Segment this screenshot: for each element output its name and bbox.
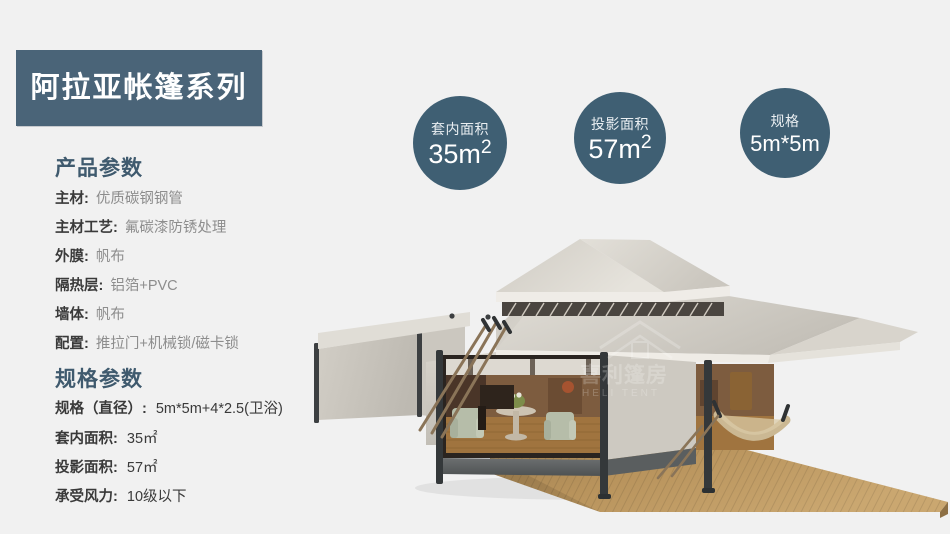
spec-params-heading: 规格参数 (55, 363, 143, 393)
page-title: 阿拉亚帐篷系列 (30, 74, 247, 103)
param-row-material-process: 主材工艺: 氟碳漆防锈处理 (55, 221, 226, 236)
stat-circle-value: 35m2 (428, 141, 491, 168)
param-label: 配置: (55, 336, 89, 352)
spec-label: 套内面积: (55, 431, 118, 447)
upper-roof (496, 239, 730, 316)
spec-row-wind-resistance: 承受风力: 10级以下 (55, 490, 187, 505)
stat-circle-value: 5m*5m (750, 133, 820, 155)
armchair-right (544, 412, 576, 440)
stat-circle-dimensions: 规格 5m*5m (740, 88, 830, 178)
param-value: 氟碳漆防锈处理 (125, 220, 227, 236)
page-root: 阿拉亚帐篷系列 产品参数 主材: 优质碳钢钢管 主材工艺: 氟碳漆防锈处理 外膜… (0, 0, 950, 534)
param-value: 优质碳钢钢管 (96, 191, 183, 207)
param-label: 隔热层: (55, 278, 103, 294)
param-row-insulation-layer: 隔热层: 铝箔+PVC (55, 279, 178, 294)
spec-value: 10级以下 (127, 489, 187, 505)
param-row-configuration: 配置: 推拉门+机械锁/磁卡锁 (55, 337, 239, 352)
spec-label: 投影面积: (55, 460, 118, 476)
param-row-outer-membrane: 外膜: 帆布 (55, 250, 125, 265)
param-value: 帆布 (96, 307, 125, 323)
param-label: 主材: (55, 191, 89, 207)
stat-circle-value: 57m2 (588, 136, 651, 163)
param-row-wall: 墙体: 帆布 (55, 308, 125, 323)
spec-value: 57㎡ (127, 460, 158, 476)
param-label: 外膜: (55, 249, 89, 265)
param-label: 主材工艺: (55, 220, 118, 236)
title-banner: 阿拉亚帐篷系列 (16, 50, 262, 126)
param-row-main-material: 主材: 优质碳钢钢管 (55, 192, 183, 207)
spec-row-projected-area: 投影面积: 57㎡ (55, 461, 158, 476)
param-value: 帆布 (96, 249, 125, 265)
spec-value: 5m*5m+4*2.5(卫浴) (156, 401, 283, 417)
stat-circle-interior-area: 套内面积 35m2 (413, 96, 507, 190)
stat-circle-projected-area: 投影面积 57m2 (574, 92, 666, 184)
spec-label: 承受风力: (55, 489, 118, 505)
param-label: 墙体: (55, 307, 89, 323)
spec-value: 35㎡ (127, 431, 158, 447)
tent-illustration: 喜利篷房 HELI TENT (300, 230, 950, 534)
spec-row-dimensions: 规格（直径）: 5m*5m+4*2.5(卫浴) (55, 402, 283, 417)
svg-text:HELI TENT: HELI TENT (582, 388, 660, 399)
param-value: 铝箔+PVC (110, 278, 177, 294)
svg-text:喜利篷房: 喜利篷房 (580, 363, 668, 387)
stat-circle-label: 规格 (771, 111, 800, 131)
spec-label: 规格（直径）: (55, 401, 147, 417)
param-value: 推拉门+机械锁/磁卡锁 (96, 336, 239, 352)
spec-row-interior-area: 套内面积: 35㎡ (55, 432, 158, 447)
product-params-heading: 产品参数 (55, 152, 143, 182)
base-plinth (442, 458, 604, 476)
